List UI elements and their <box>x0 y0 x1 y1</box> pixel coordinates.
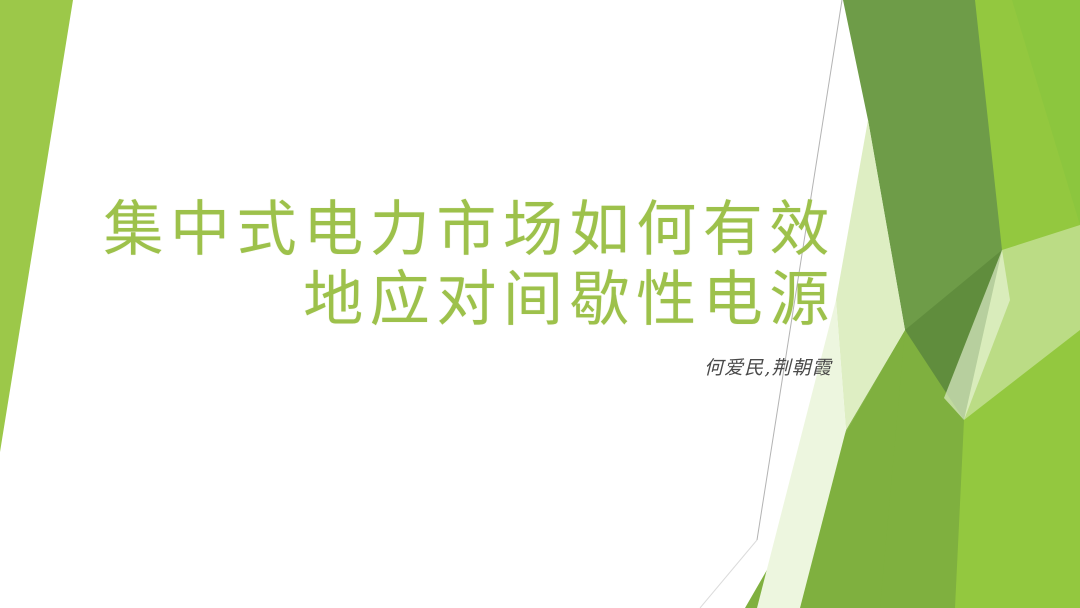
deep-green-notch-shape <box>905 250 1002 420</box>
page-title: 集中式电力市场如何有效 地应对间歇性电源 <box>96 196 836 335</box>
left-wedge-shape <box>0 0 73 452</box>
author-byline: 何爱民,荆朝霞 <box>96 353 832 380</box>
pale-wedge-upper-shape <box>836 120 905 430</box>
title-text-block: 集中式电力市场如何有效 地应对间歇性电源 何爱民,荆朝霞 <box>96 196 836 380</box>
right-bright-band-shape <box>862 0 1080 608</box>
title-slide: 集中式电力市场如何有效 地应对间歇性电源 何爱民,荆朝霞 <box>0 0 1080 608</box>
pale-highlight-right-shape <box>964 225 1080 420</box>
right-edge-band-shape <box>876 0 1080 608</box>
pale-highlight-lower-shape <box>944 250 1010 420</box>
hairline-diagonal-lower-shape <box>700 540 757 608</box>
right-dark-panel-shape <box>843 0 1002 398</box>
